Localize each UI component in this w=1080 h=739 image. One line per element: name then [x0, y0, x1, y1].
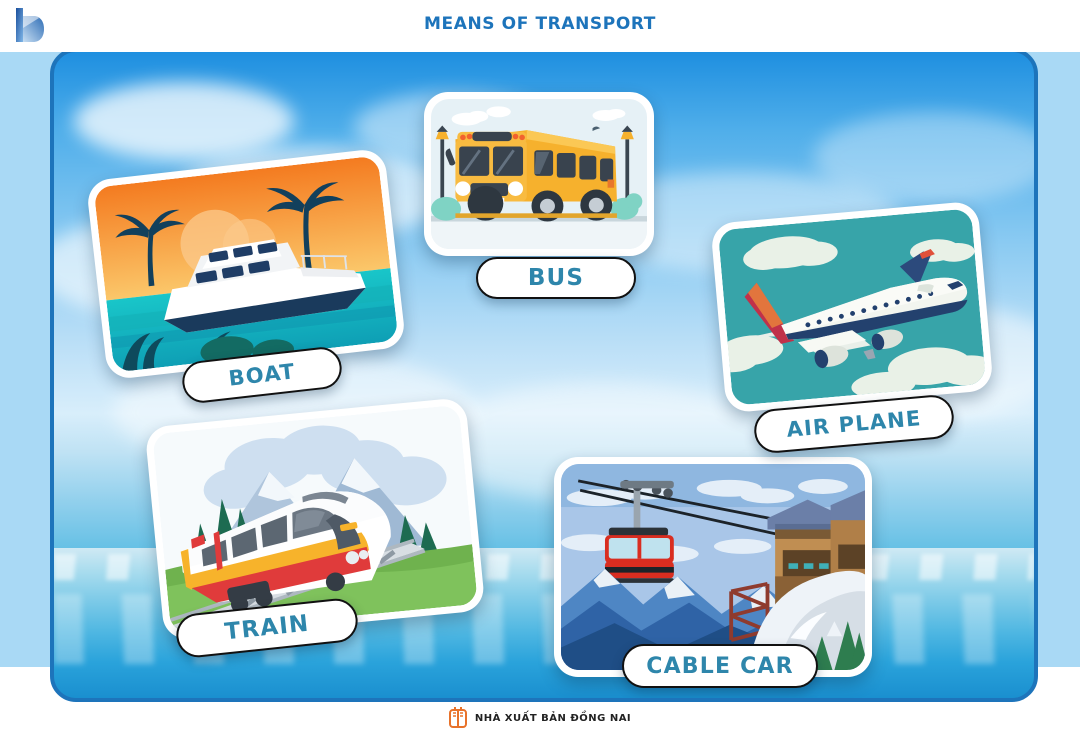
page-header: MEANS OF TRANSPORT [0, 0, 1080, 52]
label-cable-car[interactable]: CABLE CAR [622, 644, 818, 688]
label-train-text: TRAIN [223, 611, 310, 646]
label-bus-text: BUS [528, 265, 584, 291]
card-bus[interactable] [424, 92, 654, 256]
publisher-name: NHÀ XUẤT BẢN ĐỒNG NAI [475, 713, 631, 724]
card-airplane[interactable] [710, 201, 994, 414]
poster-panel: BOAT [50, 48, 1038, 702]
label-boat-text: BOAT [227, 359, 296, 390]
illustration-train [152, 405, 478, 634]
open-book-icon [449, 707, 467, 729]
poster-page: MEANS OF TRANSPORT [0, 0, 1080, 739]
label-airplane-text: AIR PLANE [786, 406, 923, 442]
label-cable-car-text: CABLE CAR [646, 654, 794, 679]
cloud-shape [74, 82, 294, 160]
label-bus[interactable]: BUS [476, 257, 636, 299]
illustration-boat [93, 155, 398, 372]
card-boat[interactable] [86, 148, 407, 381]
cloud-shape [814, 112, 1038, 202]
illustration-bus [431, 99, 647, 249]
illustration-cable-car [561, 464, 865, 670]
page-title: MEANS OF TRANSPORT [0, 14, 1080, 34]
illustration-airplane [718, 208, 986, 405]
page-footer: NHÀ XUẤT BẢN ĐỒNG NAI [0, 703, 1080, 733]
